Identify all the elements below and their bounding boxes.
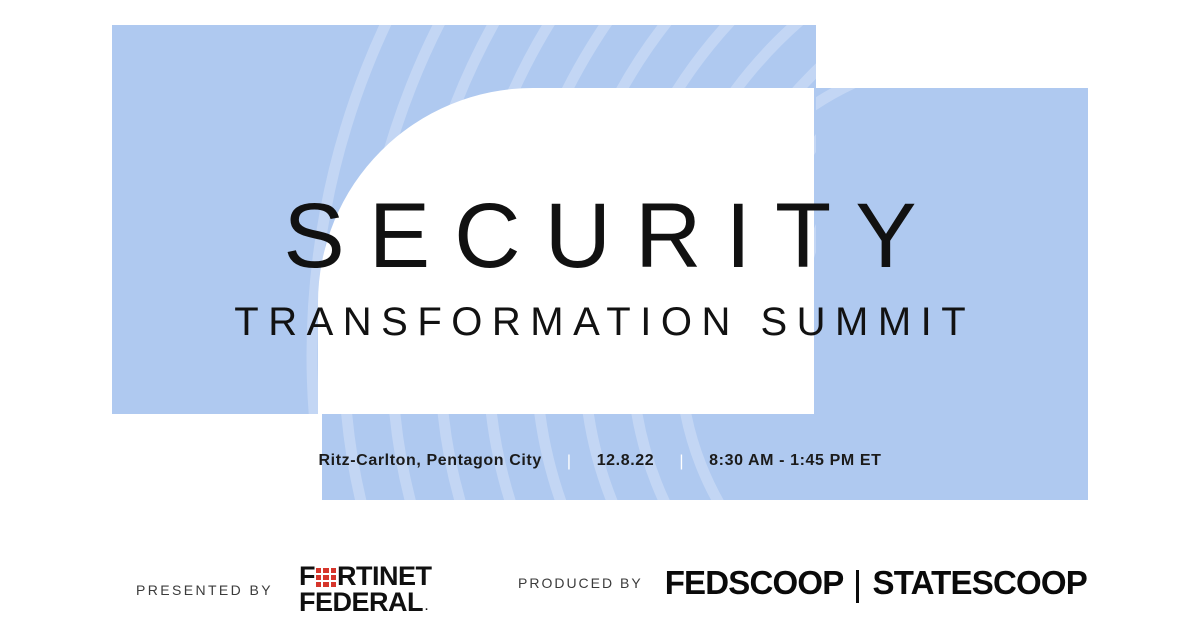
footer: PRESENTED BY F RTINET <box>0 548 1200 628</box>
scoop-logos: FEDSCOOP STATESCOOP <box>665 564 1087 602</box>
fedscoop-logo: FEDSCOOP <box>665 564 844 602</box>
event-venue: Ritz-Carlton, Pentagon City <box>319 452 542 469</box>
federal-wordmark: FEDERAL . <box>299 590 432 616</box>
statescoop-logo: STATESCOOP <box>872 564 1086 602</box>
page-title: SECURITY <box>0 190 1200 282</box>
logo-divider <box>856 570 859 603</box>
federal-text: FEDERAL <box>299 590 423 616</box>
fortinet-o-icon <box>316 568 336 587</box>
event-time: 8:30 AM - 1:45 PM ET <box>709 452 881 469</box>
event-banner: SECURITY TRANSFORMATION SUMMIT Ritz-Carl… <box>0 0 1200 628</box>
details-separator-1: | <box>547 453 592 471</box>
fortinet-wordmark: F RTINET <box>299 564 432 590</box>
produced-by-block: PRODUCED BY FEDSCOOP STATESCOOP <box>518 564 1087 602</box>
presented-by-block: PRESENTED BY F RTINET <box>136 564 431 616</box>
produced-by-label: PRODUCED BY <box>518 575 643 591</box>
registered-mark: . <box>425 602 428 613</box>
fortinet-text-post: RTINET <box>337 564 432 590</box>
event-date: 12.8.22 <box>597 452 655 469</box>
details-separator-2: | <box>659 453 704 471</box>
page-subtitle: TRANSFORMATION SUMMIT <box>0 302 1200 342</box>
event-details: Ritz-Carlton, Pentagon City | 12.8.22 | … <box>0 452 1200 470</box>
fortinet-text-pre: F <box>299 564 315 590</box>
presented-by-label: PRESENTED BY <box>136 582 273 598</box>
fortinet-federal-logo: F RTINET FEDERAL <box>299 564 432 616</box>
